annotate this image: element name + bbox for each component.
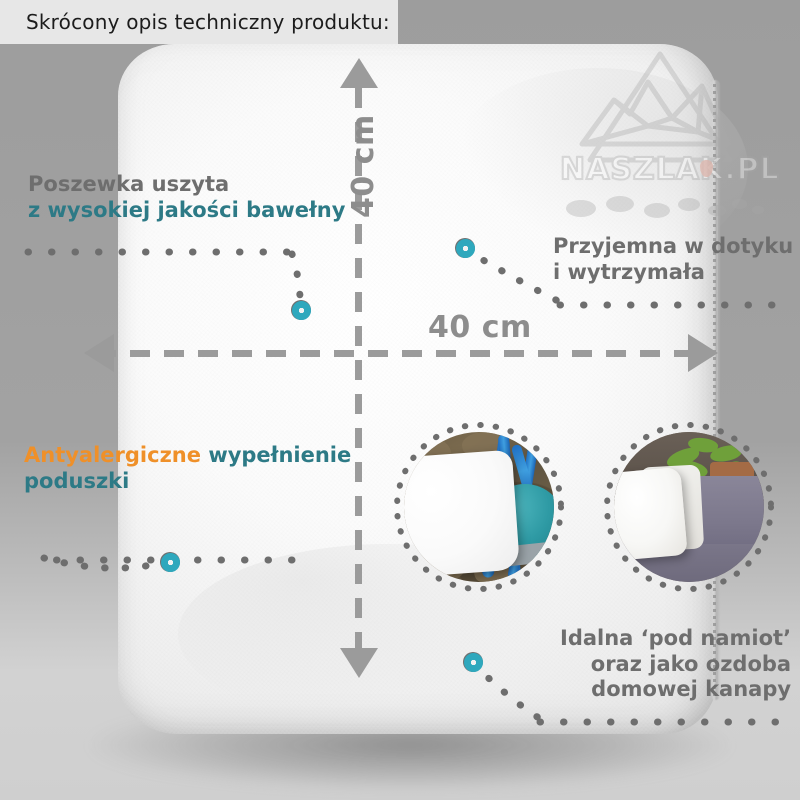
page-title: Skrócony opis techniczny produktu:	[26, 10, 390, 34]
callout-line: oraz jako ozdoba	[560, 652, 791, 678]
header-bar: Skrócony opis techniczny produktu:	[0, 0, 398, 44]
callout-line: Przyjemna w dotyku	[553, 234, 793, 260]
marker-node-usecase	[463, 652, 483, 672]
callout-use-cases: Idalna ‘pod namiot’ oraz jako ozdoba dom…	[560, 626, 791, 703]
callout-line-mixed: Antyalergiczne wypełnienie	[24, 443, 351, 469]
callout-cover-fabric: Poszewka uszyta z wysokiej jakości baweł…	[28, 172, 345, 223]
callout-line: i wytrzymała	[553, 260, 793, 286]
photo-pillow	[614, 467, 688, 561]
callout-line: Idalna ‘pod namiot’	[560, 626, 791, 652]
marker-node-touch	[455, 238, 475, 258]
infographic-canvas: NASZLAK.PL 40 cm 40 cm	[0, 0, 800, 800]
arrow-down-icon	[340, 648, 378, 678]
callout-line: z wysokiej jakości bawełny	[28, 198, 345, 224]
width-dimension-label: 40 cm	[428, 310, 532, 345]
marker-node-filling	[160, 552, 180, 572]
arrow-left-icon	[84, 334, 114, 372]
height-dimension-label: 40 cm	[346, 114, 381, 218]
callout-touch-durable: Przyjemna w dotyku i wytrzymała	[553, 234, 793, 285]
callout-antiallergic-filling: Antyalergiczne wypełnienie poduszki	[24, 443, 351, 494]
outdoor-photo	[404, 432, 554, 582]
callout-line: Poszewka uszyta	[28, 172, 345, 198]
photo-pillow	[404, 450, 520, 579]
callout-line: domowej kanapy	[560, 677, 791, 703]
callout-word: wypełnienie	[208, 443, 351, 467]
pillow-stitching	[713, 84, 716, 696]
arrow-up-icon	[340, 58, 378, 88]
sofa-photo	[614, 432, 764, 582]
arrow-right-icon	[688, 334, 718, 372]
callout-line: poduszki	[24, 469, 351, 495]
callout-word-highlight: Antyalergiczne	[24, 443, 201, 467]
horizontal-dimension-line	[96, 350, 706, 357]
marker-node-cover	[291, 300, 311, 320]
